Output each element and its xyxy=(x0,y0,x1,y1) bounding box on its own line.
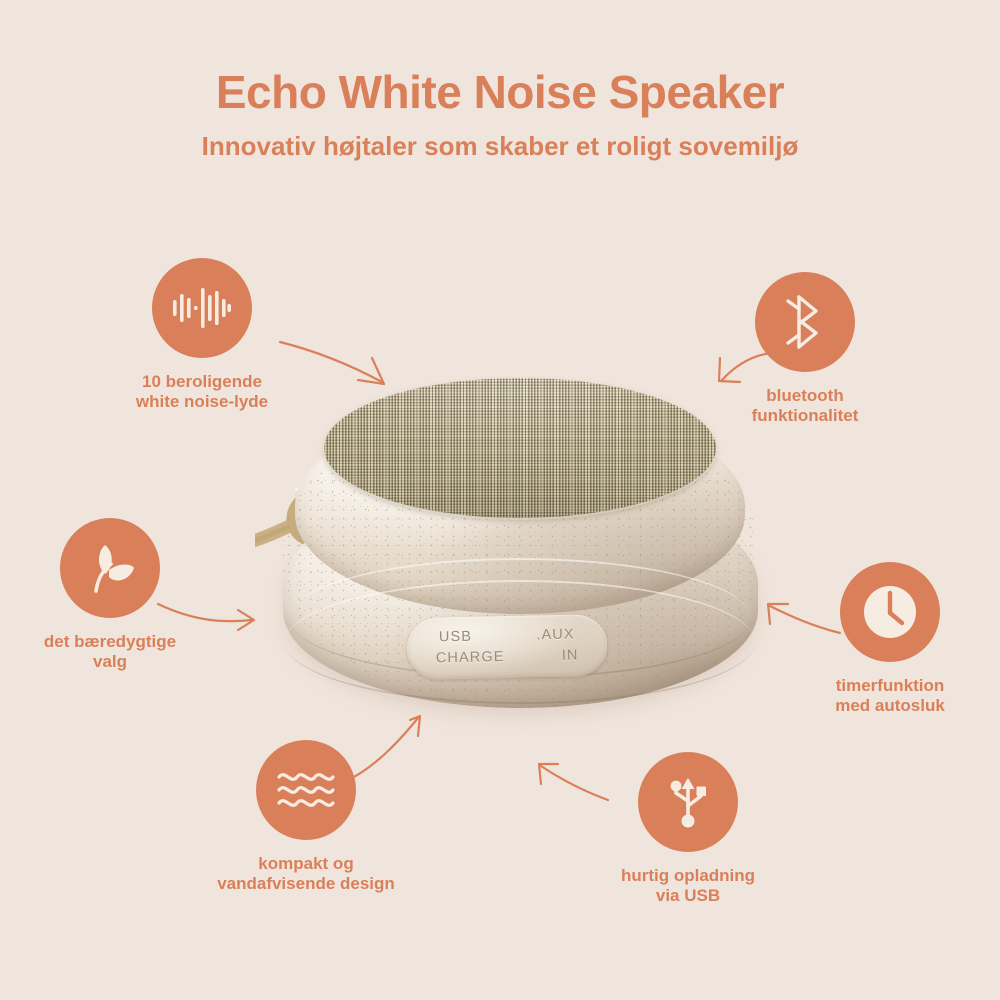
port-label-aux: .AUX xyxy=(536,627,575,644)
port-label-in: IN xyxy=(562,648,579,664)
sound-wave-icon xyxy=(173,285,231,331)
feature-eco[interactable]: det bæredygtige valg xyxy=(0,518,220,673)
port-label-charge: CHARGE xyxy=(436,649,505,666)
feature-timer[interactable]: timerfunktion med autosluk xyxy=(780,562,1000,717)
port-label-row-bottom: CHARGE IN xyxy=(407,647,607,667)
header: Echo White Noise Speaker Innovativ højta… xyxy=(0,0,1000,161)
feature-water[interactable]: kompakt og vandafvisende design xyxy=(196,740,416,895)
feature-timer-label: timerfunktion med autosluk xyxy=(780,676,1000,717)
feature-sound-label: 10 beroligende white noise-lyde xyxy=(92,372,312,413)
feature-eco-label: det bæredygtige valg xyxy=(0,632,220,673)
feature-eco-bubble[interactable] xyxy=(60,518,160,618)
feature-water-label: kompakt og vandafvisende design xyxy=(196,854,416,895)
feature-usb-bubble[interactable] xyxy=(638,752,738,852)
feature-usb-label: hurtig opladning via USB xyxy=(578,866,798,907)
port-label-usb: USB xyxy=(439,629,472,646)
leaf-sprout-icon xyxy=(84,542,136,594)
port-cover: USB .AUX CHARGE IN xyxy=(406,614,607,680)
bluetooth-icon xyxy=(785,295,825,349)
usb-icon xyxy=(666,773,710,831)
feature-bluetooth[interactable]: bluetooth funktionalitet xyxy=(695,272,915,427)
feature-timer-bubble[interactable] xyxy=(840,562,940,662)
feature-bluetooth-label: bluetooth funktionalitet xyxy=(695,386,915,427)
page-subtitle: Innovativ højtaler som skaber et roligt … xyxy=(0,116,1000,161)
page-title: Echo White Noise Speaker xyxy=(0,0,1000,116)
feature-sound-bubble[interactable] xyxy=(152,258,252,358)
water-waves-icon xyxy=(277,769,335,811)
feature-usb[interactable]: hurtig opladning via USB xyxy=(578,752,798,907)
grille-rim xyxy=(322,376,718,520)
feature-water-bubble[interactable] xyxy=(256,740,356,840)
feature-bluetooth-bubble[interactable] xyxy=(755,272,855,372)
clock-icon xyxy=(862,584,918,640)
feature-sound[interactable]: 10 beroligende white noise-lyde xyxy=(92,258,312,413)
port-label-row-top: USB .AUX xyxy=(407,626,607,646)
